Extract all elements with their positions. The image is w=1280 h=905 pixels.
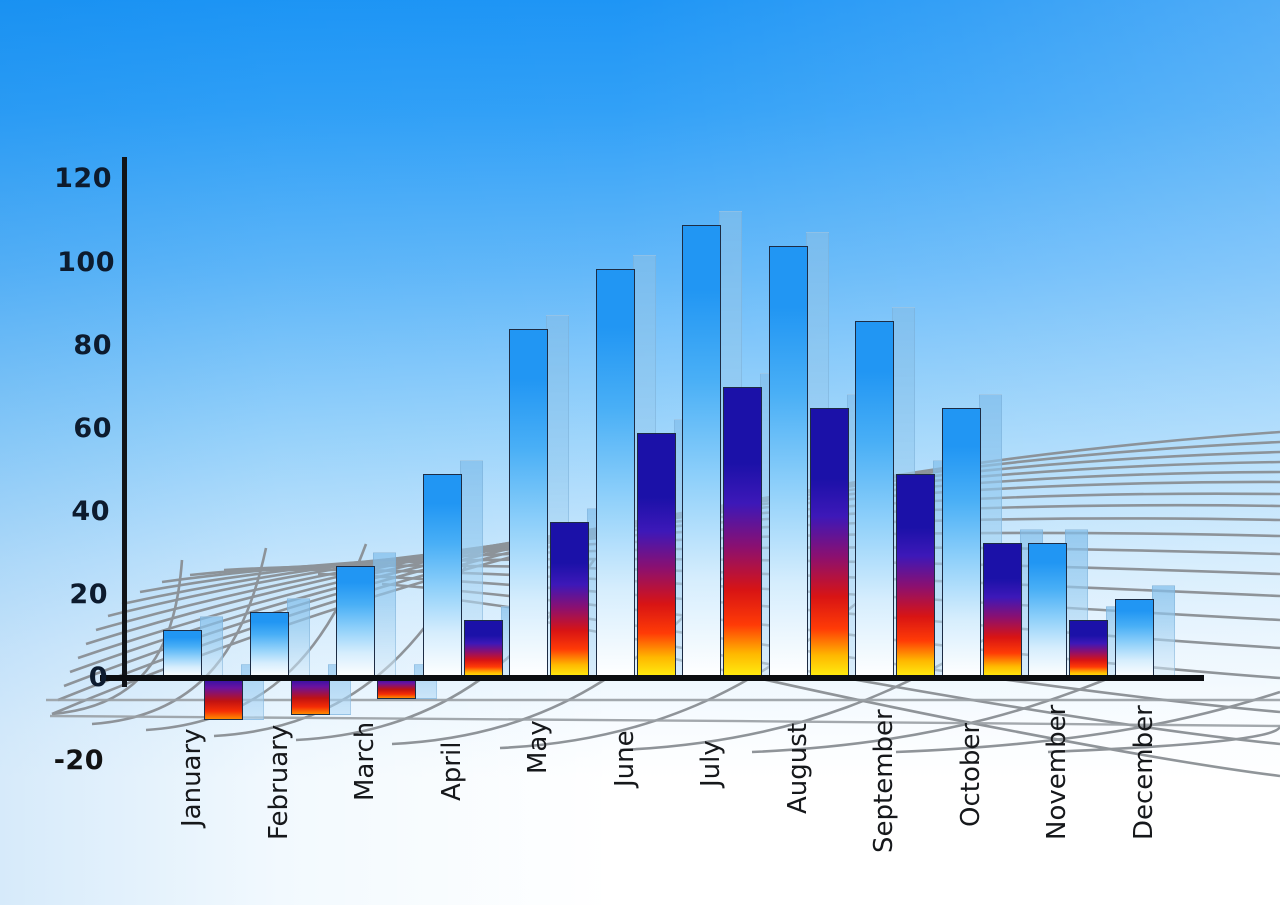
x-axis-category-labels: JanuaryFebruaryMarchAprilMayJuneJulyAugu… [0,0,1280,905]
x-label-october: October [958,723,984,827]
x-label-september: September [871,709,897,853]
chart-canvas: 120100806040200-20 JanuaryFebruaryMarchA… [0,0,1280,905]
x-label-june: June [612,731,638,788]
x-label-january: January [179,728,205,827]
x-label-november: November [1044,705,1070,840]
x-label-february: February [266,725,292,840]
x-label-march: March [352,721,378,800]
x-label-july: July [698,741,724,788]
x-label-april: April [439,741,465,800]
x-label-december: December [1131,705,1157,840]
x-label-may: May [525,721,551,775]
x-label-august: August [785,723,811,814]
